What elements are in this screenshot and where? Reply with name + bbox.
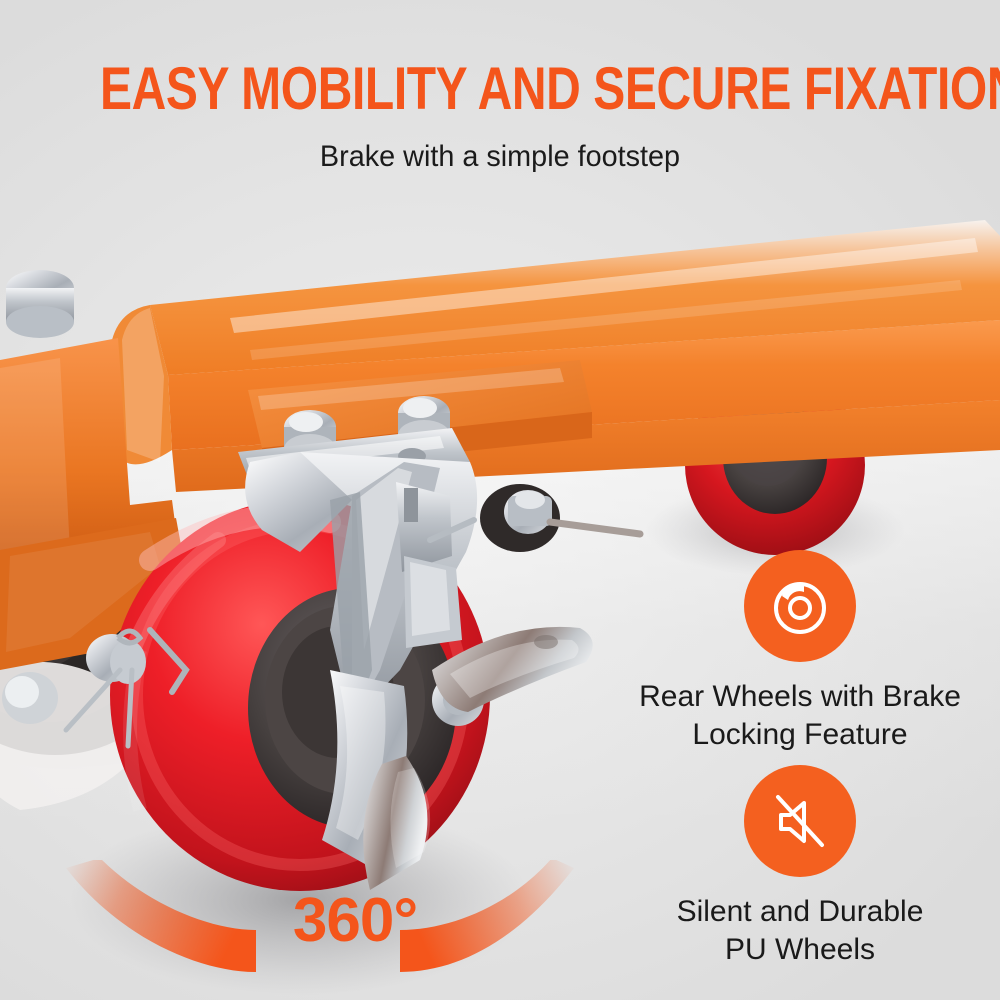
feature-icon-circle bbox=[744, 765, 856, 877]
feature-rear-wheels-brake: Rear Wheels with Brake Locking Feature bbox=[600, 550, 1000, 754]
feature-icon-circle bbox=[744, 550, 856, 662]
feature-label: Rear Wheels with Brake Locking Feature bbox=[600, 678, 1000, 754]
page-subtitle: Brake with a simple footstep bbox=[20, 139, 980, 175]
brake-disc-icon bbox=[768, 574, 832, 638]
feature-label: Silent and Durable PU Wheels bbox=[600, 893, 1000, 969]
rotation-badge: 360° bbox=[60, 860, 580, 990]
feature-silent-pu-wheels: Silent and Durable PU Wheels bbox=[600, 765, 1000, 969]
product-feature-image: EASY MOBILITY AND SECURE FIXATION Brake … bbox=[0, 0, 1000, 1000]
chrome-stud bbox=[6, 270, 74, 338]
rotation-label: 360° bbox=[260, 888, 450, 954]
speaker-muted-icon bbox=[768, 789, 832, 853]
swivel-arc-left bbox=[66, 860, 256, 972]
page-title: EASY MOBILITY AND SECURE FIXATION bbox=[100, 58, 900, 120]
